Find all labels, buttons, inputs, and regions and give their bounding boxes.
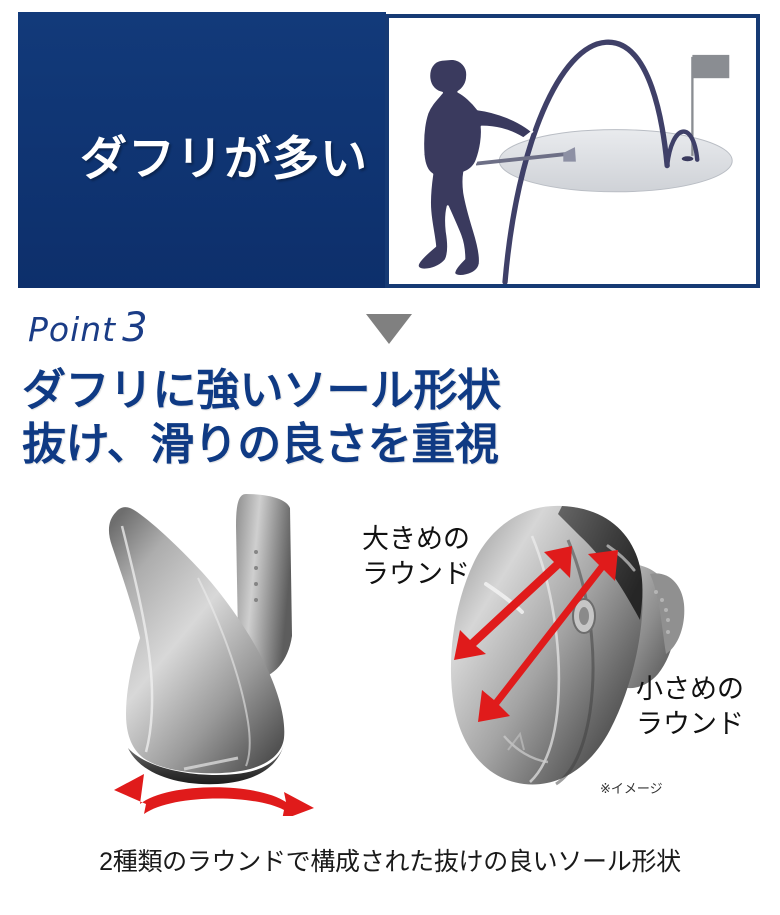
image-note: ※イメージ	[600, 778, 663, 797]
illustration-panel	[385, 14, 760, 288]
club-weight-port-inner	[579, 607, 589, 625]
annotation-small-round-line1: 小さめの	[636, 672, 744, 707]
down-triangle-icon	[366, 314, 412, 344]
annotation-big-round: 大きめの ラウンド	[362, 522, 470, 592]
point-label-word: Point	[28, 310, 116, 349]
iron-head-toe-view	[78, 486, 348, 816]
iron-head-toe-view-svg	[78, 486, 348, 816]
banner-row: ダフリが多い	[18, 12, 760, 288]
heading-line-1: ダフリに強いソール形状	[22, 364, 501, 418]
annotation-big-round-line2: ラウンド	[362, 557, 470, 592]
golfer-fat-shot-illustration	[389, 18, 756, 284]
point-label-number: 3	[116, 305, 148, 351]
hole-marker	[682, 156, 694, 161]
annotation-small-round: 小さめの ラウンド	[636, 672, 744, 742]
flag-icon	[692, 55, 729, 78]
annotation-big-round-line1: 大きめの	[362, 522, 470, 557]
annotation-small-round-line2: ラウンド	[636, 707, 744, 742]
point-label: Point3	[28, 305, 149, 351]
section-heading: ダフリに強いソール形状 抜け、滑りの良さを重視	[22, 364, 501, 471]
headline-block: ダフリが多い	[18, 12, 386, 288]
bottom-caption: 2種類のラウンドで構成された抜けの良いソール形状	[0, 842, 780, 878]
heading-line-2: 抜け、滑りの良さを重視	[22, 418, 501, 472]
banner-headline: ダフリが多い	[80, 120, 368, 189]
